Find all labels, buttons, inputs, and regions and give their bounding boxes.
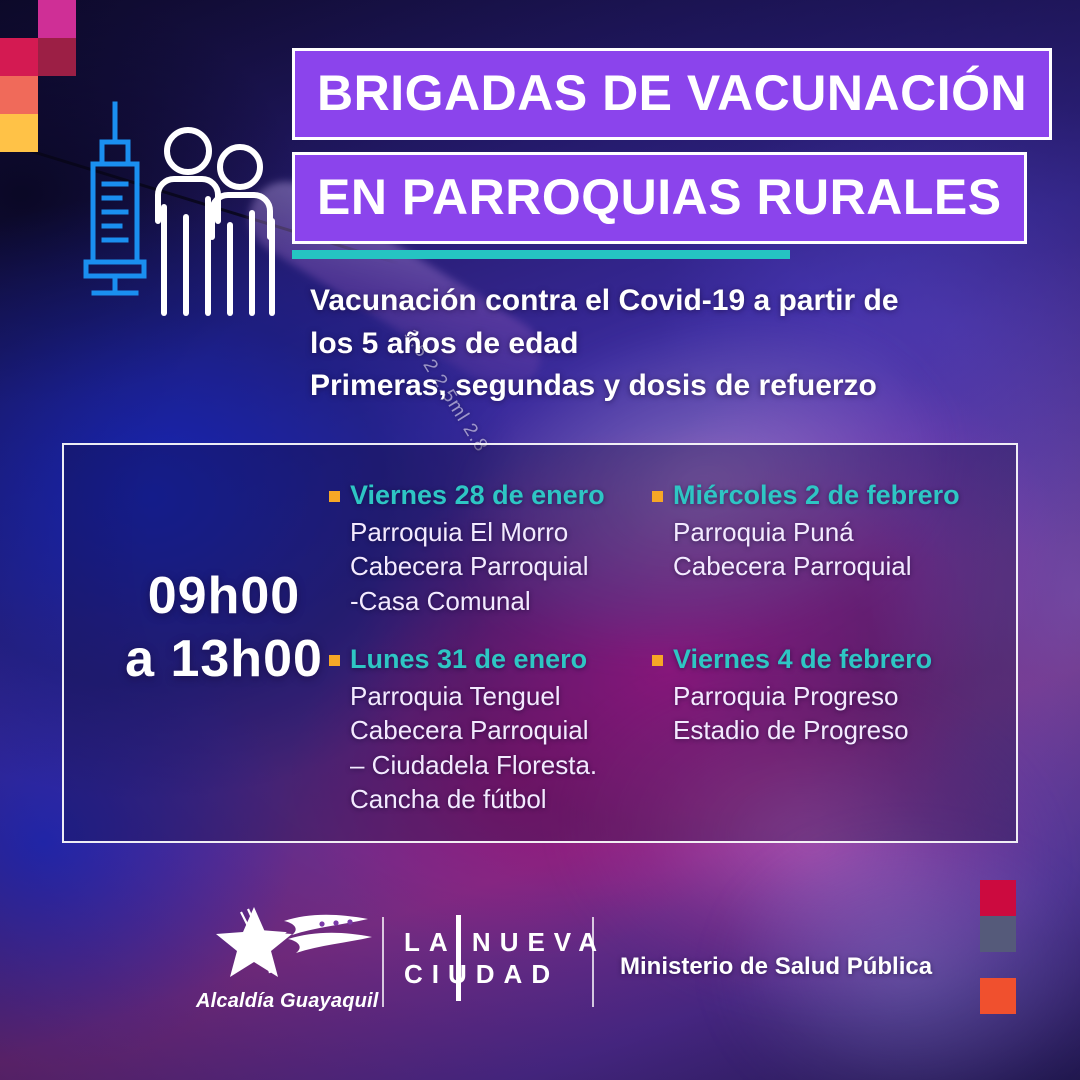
schedule-entry: Miércoles 2 de febrero Parroquia Puná Ca…: [652, 481, 992, 584]
decor-square-amber: [0, 114, 38, 152]
location-line: – Ciudadela Floresta.: [350, 748, 659, 783]
footer-logos: Alcaldía Guayaquil LA NUEVA CIUDAD Minis…: [0, 905, 1080, 1035]
alcaldia-guayaquil-logo: Alcaldía Guayaquil: [196, 905, 376, 1013]
time-start: 09h00: [104, 565, 344, 628]
time-range-block: 09h00 a 13h00: [104, 565, 344, 692]
bullet-square-icon: [652, 655, 663, 666]
schedule-entry: Viernes 28 de enero Parroquia El Morro C…: [329, 481, 659, 618]
schedule-entry-date: Miércoles 2 de febrero: [673, 481, 960, 511]
schedule-entry-location: Parroquia Progreso Estadio de Progreso: [673, 679, 992, 748]
footer-divider-2: [592, 917, 594, 1007]
location-line: Cabecera Parroquial: [350, 713, 659, 748]
title-underline-rule: [292, 250, 790, 259]
footer-divider-1: [382, 917, 384, 1007]
location-line: Cabecera Parroquial: [673, 549, 992, 584]
bullet-square-icon: [329, 491, 340, 502]
title-line-1: BRIGADAS DE VACUNACIÓN: [292, 48, 1052, 140]
location-line: Parroquia Puná: [673, 515, 992, 550]
star-swoosh-icon: [196, 905, 376, 983]
location-line: Parroquia El Morro: [350, 515, 659, 550]
poster-canvas: 1.5 2 2.5ml 2.8: [0, 0, 1080, 1080]
nueva-ciudad-bar-icon: [456, 915, 461, 1001]
location-line: Parroquia Tenguel: [350, 679, 659, 714]
decor-square-maroon: [38, 38, 76, 76]
schedule-entry-location: Parroquia Puná Cabecera Parroquial: [673, 515, 992, 584]
title-line-2: EN PARROQUIAS RURALES: [292, 152, 1027, 244]
location-line: Cancha de fútbol: [350, 782, 659, 817]
schedule-entry-date: Viernes 28 de enero: [350, 481, 605, 511]
location-line: Estadio de Progreso: [673, 713, 992, 748]
location-line: Parroquia Progreso: [673, 679, 992, 714]
schedule-entry: Lunes 31 de enero Parroquia Tenguel Cabe…: [329, 645, 659, 817]
subtitle-line-2: los 5 años de edad: [310, 323, 1010, 366]
la-nueva-ciudad-logo: LA NUEVA CIUDAD: [404, 927, 606, 990]
schedule-entry-location: Parroquia Tenguel Cabecera Parroquial – …: [350, 679, 659, 817]
subtitle-line-1: Vacunación contra el Covid-19 a partir d…: [310, 280, 1010, 323]
schedule-entry-date: Lunes 31 de enero: [350, 645, 587, 675]
subtitle-block: Vacunación contra el Covid-19 a partir d…: [310, 280, 1010, 408]
decor-square-crimson: [0, 38, 38, 76]
nueva-ciudad-line-1: LA NUEVA: [404, 927, 606, 959]
decor-square-coral: [0, 76, 38, 114]
ministerio-salud-label: Ministerio de Salud Pública: [620, 953, 932, 981]
nueva-ciudad-line-2: CIUDAD: [404, 959, 606, 991]
schedule-entry-date: Viernes 4 de febrero: [673, 645, 932, 675]
schedule-entry: Viernes 4 de febrero Parroquia Progreso …: [652, 645, 992, 748]
bullet-square-icon: [652, 491, 663, 502]
subtitle-line-3: Primeras, segundas y dosis de refuerzo: [310, 365, 1010, 408]
decor-square-magenta: [38, 0, 76, 38]
people-group-icon: [140, 125, 290, 330]
location-line: -Casa Comunal: [350, 584, 659, 619]
schedule-panel: 09h00 a 13h00 Viernes 28 de enero Parroq…: [62, 443, 1018, 843]
bullet-square-icon: [329, 655, 340, 666]
location-line: Cabecera Parroquial: [350, 549, 659, 584]
time-end: a 13h00: [104, 628, 344, 691]
title-block: BRIGADAS DE VACUNACIÓN EN PARROQUIAS RUR…: [292, 48, 1080, 244]
schedule-entry-location: Parroquia El Morro Cabecera Parroquial -…: [350, 515, 659, 619]
alcaldia-label: Alcaldía Guayaquil: [196, 990, 376, 1013]
